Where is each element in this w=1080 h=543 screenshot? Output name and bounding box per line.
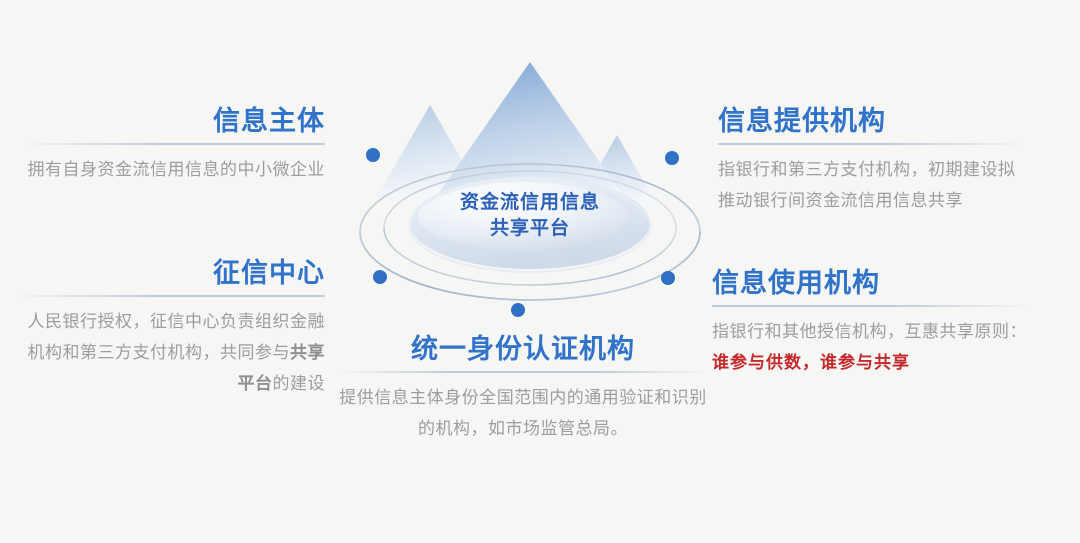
block-information-provider: 信息提供机构 指银行和第三方支付机构，初期建设拟推动银行间资金流信用信息共享 — [718, 104, 1028, 216]
orbit-node — [373, 270, 387, 284]
heading-information-user: 信息使用机构 — [712, 266, 1034, 300]
body-information-user-prefix: 指银行和其他授信机构，互惠共享原则： — [712, 322, 1027, 341]
orbit-node — [511, 303, 525, 317]
heading-information-subject: 信息主体 — [20, 104, 325, 138]
body-information-user-accent: 谁参与供数，谁参与共享 — [712, 353, 910, 372]
body-credit-center-part1: 人民银行授权，征信中心负责组织金融机构和第三方支付机构，共同参与 — [28, 312, 326, 362]
block-credit-center: 征信中心 人民银行授权，征信中心负责组织金融机构和第三方支付机构，共同参与共享平… — [12, 256, 325, 399]
heading-rule — [20, 143, 325, 145]
body-identity-authority: 提供信息主体身份全国范围内的通用验证和识别的机构，如市场监管总局。 — [338, 382, 708, 444]
orbit-node — [665, 151, 679, 165]
heading-rule — [712, 305, 1034, 307]
heading-information-provider: 信息提供机构 — [718, 104, 1028, 138]
heading-rule — [718, 143, 1028, 145]
heading-credit-center: 征信中心 — [12, 256, 325, 290]
heading-rule — [12, 295, 325, 297]
central-platform-graphic — [320, 30, 740, 330]
body-information-subject: 拥有自身资金流信用信息的中小微企业 — [20, 154, 325, 185]
block-information-subject: 信息主体 拥有自身资金流信用信息的中小微企业 — [20, 104, 325, 185]
body-credit-center-part2: 的建设 — [273, 374, 326, 393]
body-information-user: 指银行和其他授信机构，互惠共享原则：谁参与供数，谁参与共享 — [712, 316, 1034, 378]
body-information-provider: 指银行和第三方支付机构，初期建设拟推动银行间资金流信用信息共享 — [718, 154, 1028, 216]
block-information-user: 信息使用机构 指银行和其他授信机构，互惠共享原则：谁参与供数，谁参与共享 — [712, 266, 1034, 378]
infographic-canvas: 资金流信用信息 共享平台 信息主体 拥有自身资金流信用信息的中小微企业 征信中心… — [0, 0, 1080, 543]
block-identity-authority: 统一身份认证机构 提供信息主体身份全国范围内的通用验证和识别的机构，如市场监管总… — [338, 332, 708, 444]
heading-identity-authority: 统一身份认证机构 — [338, 332, 708, 366]
platform-label: 资金流信用信息 共享平台 — [320, 190, 740, 242]
orbit-node — [661, 271, 675, 285]
heading-rule — [338, 371, 708, 373]
body-credit-center: 人民银行授权，征信中心负责组织金融机构和第三方支付机构，共同参与共享平台的建设 — [12, 306, 325, 399]
orbit-node — [366, 148, 380, 162]
